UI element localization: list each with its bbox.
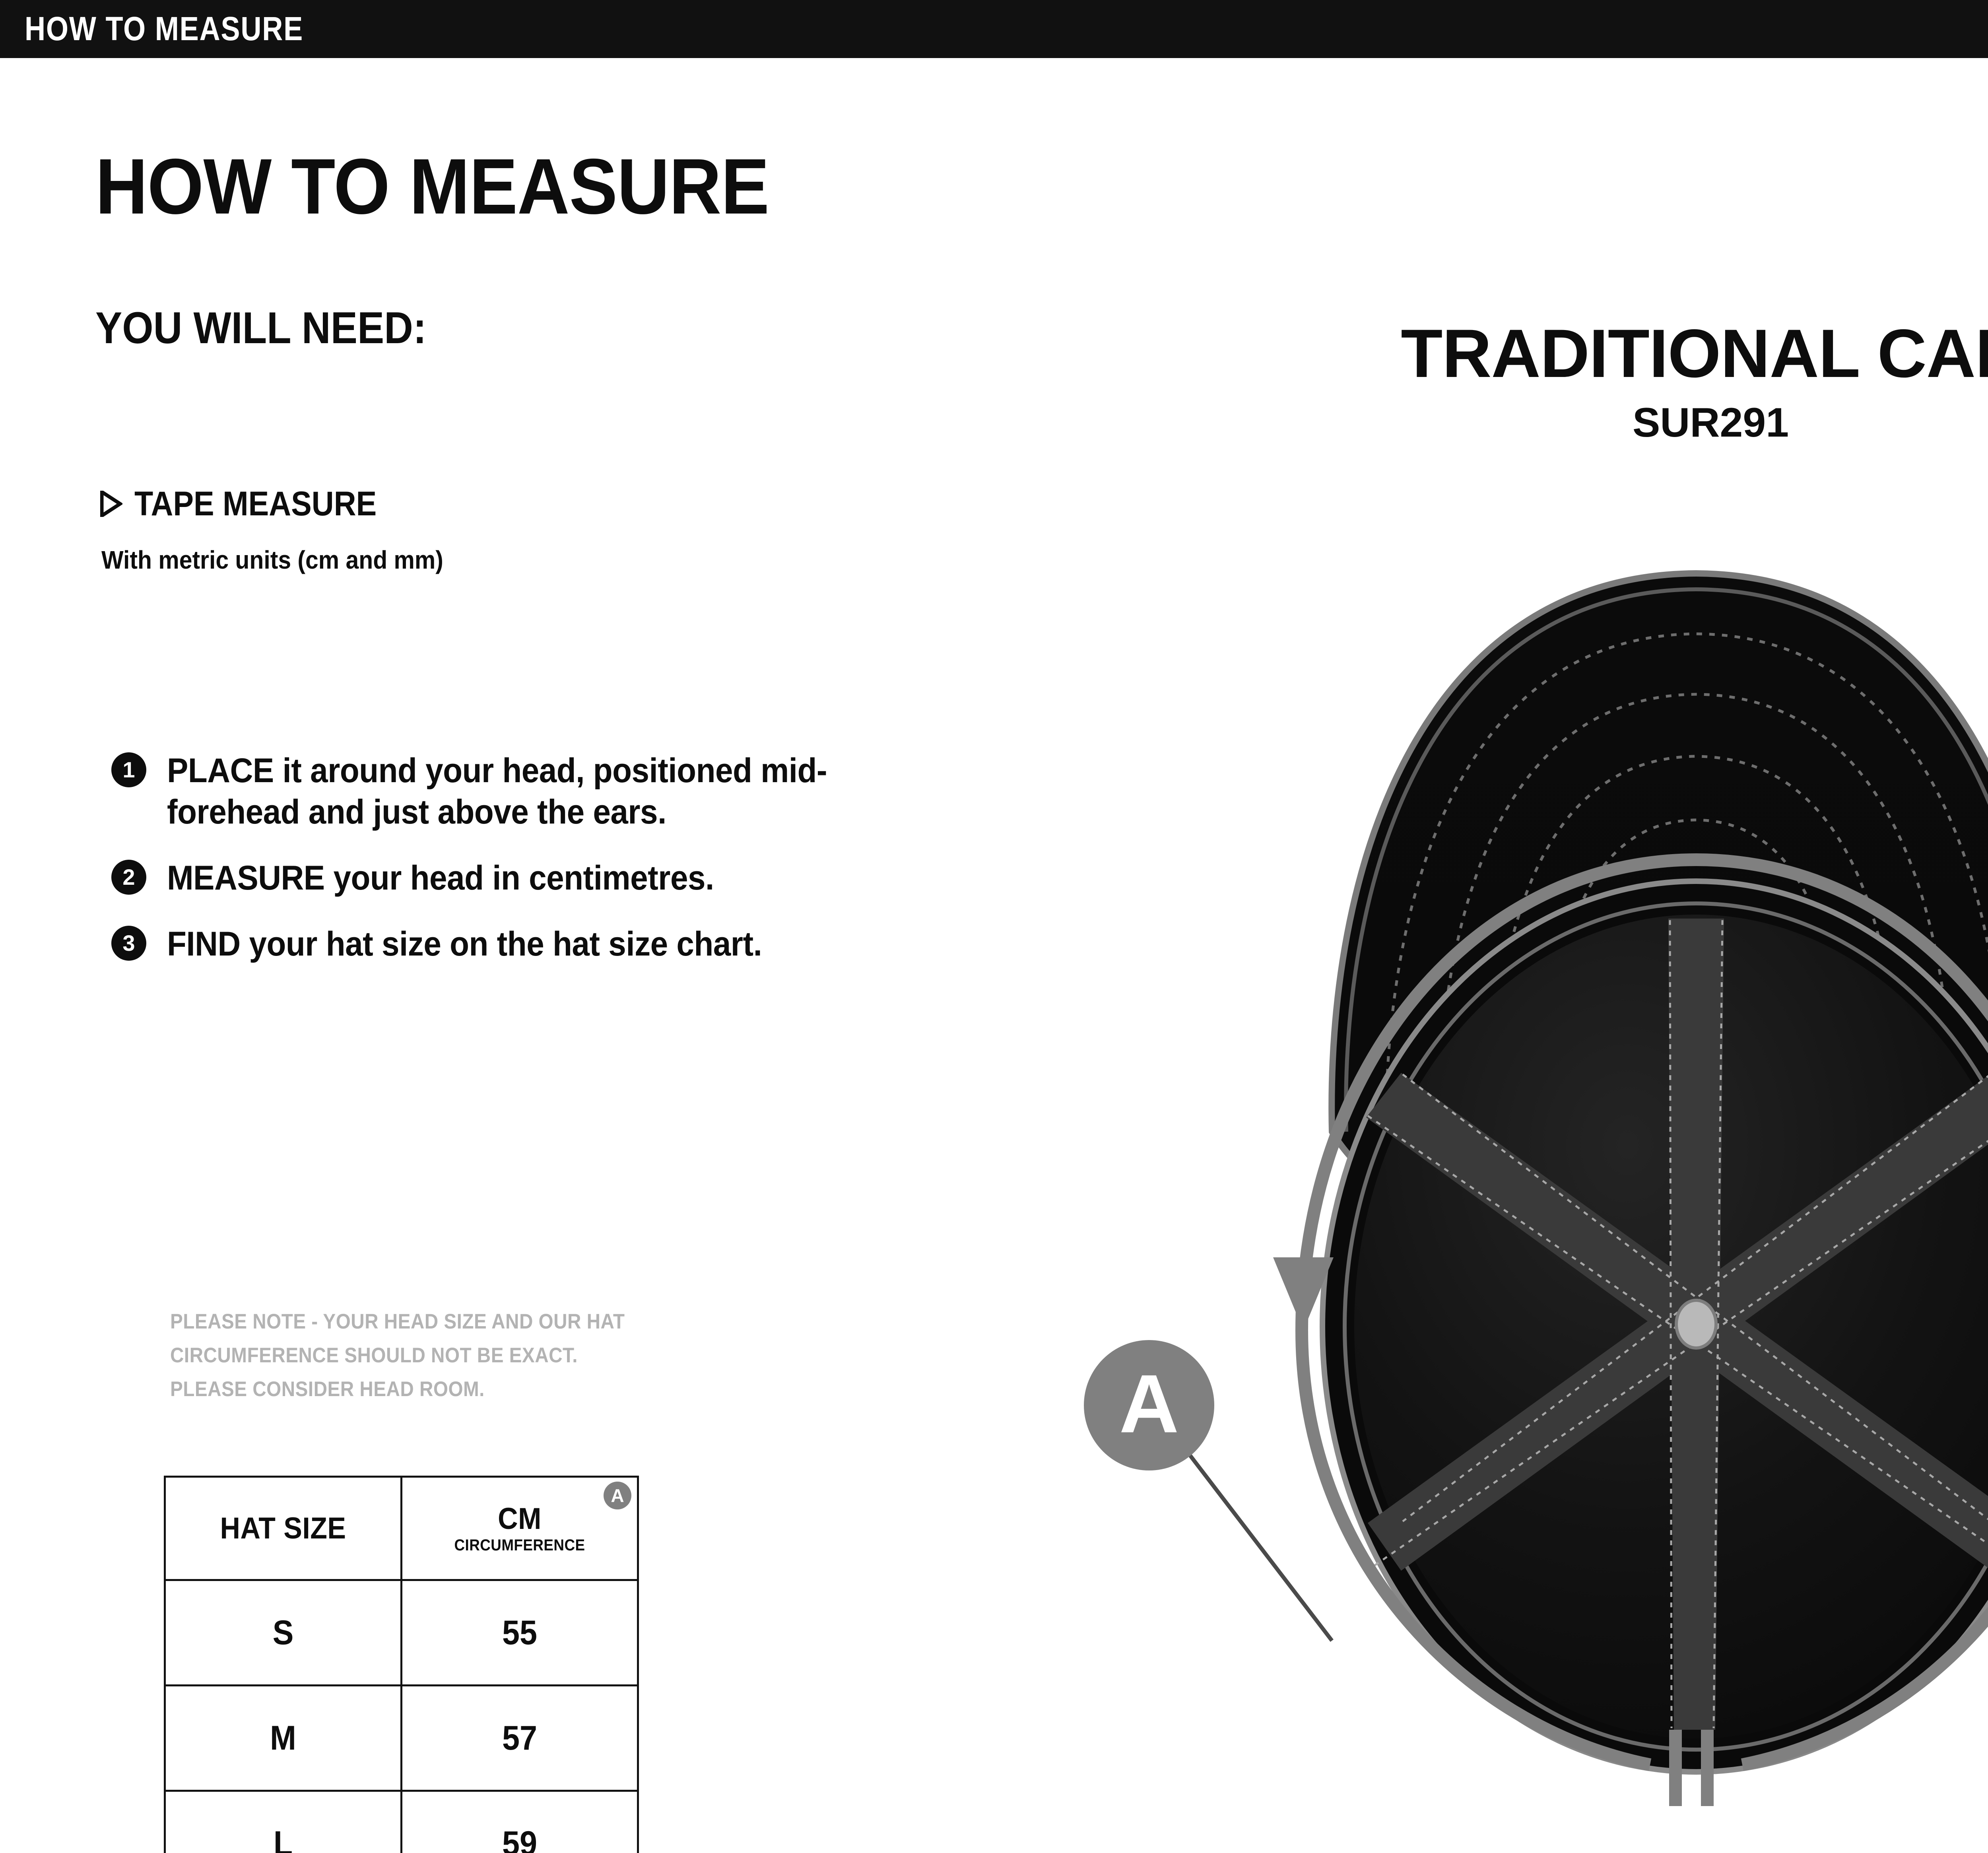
callout-a: A	[1084, 1340, 1332, 1641]
step-number-badge: 1	[111, 752, 146, 787]
left-column: HOW TO MEASURE YOU WILL NEED: TAPE MEASU…	[0, 58, 1074, 1853]
callout-badge-label: A	[1119, 1358, 1179, 1450]
product-title: TRADITIONAL CAP	[1074, 317, 1988, 390]
step-number-badge: 2	[111, 860, 146, 895]
top-bar-title: HOW TO MEASURE	[25, 9, 303, 49]
value-hat-size: S	[175, 1614, 391, 1651]
callout-leader-line	[1189, 1454, 1332, 1641]
right-column: TRADITIONAL CAP SUR291	[1074, 58, 1988, 1853]
cell-cm: 59	[402, 1791, 638, 1853]
value-cm: 57	[412, 1720, 628, 1756]
value-cm: 59	[412, 1825, 628, 1853]
tool-label: TAPE MEASURE	[134, 486, 377, 522]
cell-hat-size: L	[165, 1791, 402, 1853]
step-text: PLACE it around your head, positioned mi…	[167, 750, 840, 833]
header-cell-circumference: A CM CIRCUMFERENCE	[402, 1477, 638, 1580]
you-will-need-heading: YOU WILL NEED:	[95, 305, 427, 352]
table-row: S 55	[165, 1580, 638, 1686]
cell-cm: 55	[402, 1580, 638, 1686]
header-label-circumference: CIRCUMFERENCE	[412, 1536, 628, 1555]
table-row: M 57	[165, 1686, 638, 1791]
cell-hat-size: M	[165, 1686, 402, 1791]
top-bar: HOW TO MEASURE SURRIDGE	[0, 0, 1988, 58]
header-cell-hat-size: HAT SIZE	[165, 1477, 402, 1580]
hat-size-table: HAT SIZE A CM CIRCUMFERENCE S 55 M 57	[164, 1476, 639, 1853]
please-note-text: PLEASE NOTE - YOUR HEAD SIZE AND OUR HAT…	[170, 1305, 625, 1406]
steps-list: 1 PLACE it around your head, positioned …	[111, 750, 891, 989]
crown-centre-button	[1676, 1300, 1716, 1348]
product-code: SUR291	[1074, 400, 1988, 445]
step-item: 3 FIND your hat size on the hat size cha…	[111, 923, 891, 965]
step-item: 2 MEASURE your head in centimetres.	[111, 857, 891, 899]
triangle-right-icon	[100, 491, 122, 517]
value-cm: 55	[412, 1614, 628, 1651]
value-hat-size: L	[175, 1825, 391, 1853]
table-header-row: HAT SIZE A CM CIRCUMFERENCE	[165, 1477, 638, 1580]
tool-subtext: With metric units (cm and mm)	[101, 545, 443, 575]
step-text: FIND your hat size on the hat size chart…	[167, 923, 840, 965]
tool-row: TAPE MEASURE	[100, 486, 404, 522]
cell-cm: 57	[402, 1686, 638, 1791]
step-item: 1 PLACE it around your head, positioned …	[111, 750, 891, 833]
table-row: L 59	[165, 1791, 638, 1853]
cap-diagram: A	[1046, 527, 1988, 1839]
header-label-cm: CM	[412, 1502, 628, 1536]
value-hat-size: M	[175, 1720, 391, 1756]
page-title: HOW TO MEASURE	[95, 146, 769, 227]
cell-hat-size: S	[165, 1580, 402, 1686]
step-number-badge: 3	[111, 926, 146, 961]
step-text: MEASURE your head in centimetres.	[167, 857, 840, 899]
header-label-hat-size: HAT SIZE	[175, 1512, 391, 1545]
how-to-measure-page: HOW TO MEASURE SURRIDGE HOW TO MEASURE Y…	[0, 0, 1988, 1853]
